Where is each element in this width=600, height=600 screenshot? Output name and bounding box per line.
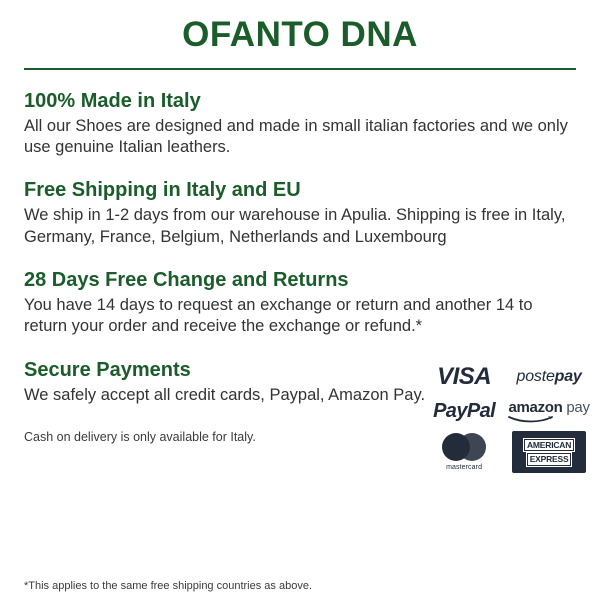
mastercard-logo: mastercard xyxy=(425,428,503,476)
section-secure-payments: Secure Payments We safely accept all cre… xyxy=(24,358,576,476)
cash-on-delivery-note: Cash on delivery is only available for I… xyxy=(24,429,425,445)
section-free-returns: 28 Days Free Change and Returns You have… xyxy=(24,268,576,339)
section-free-shipping: Free Shipping in Italy and EU We ship in… xyxy=(24,178,576,249)
mastercard-circle-right xyxy=(458,433,486,461)
amazon-swoosh-icon xyxy=(508,415,564,423)
amazon-pay-logo: amazon pay xyxy=(503,394,595,428)
amazon-pay-logo-mark: amazon pay xyxy=(508,400,589,423)
visa-logo: VISA xyxy=(425,360,503,394)
section-heading: 28 Days Free Change and Returns xyxy=(24,268,576,292)
amex-line-2: EXPRESS xyxy=(527,453,572,466)
secure-payments-text: Secure Payments We safely accept all cre… xyxy=(24,358,425,445)
mastercard-logo-text: mastercard xyxy=(446,464,482,471)
section-heading: Free Shipping in Italy and EU xyxy=(24,178,576,202)
american-express-logo: AMERICAN EXPRESS xyxy=(503,428,595,476)
payment-logos-grid: VISA postepay PayPal amazon pay xyxy=(425,360,600,476)
section-body: We safely accept all credit cards, Paypa… xyxy=(24,385,425,407)
postepay-logo: postepay xyxy=(503,360,595,394)
amazon-wordmark: amazon xyxy=(508,399,562,416)
shipping-footnote: *This applies to the same free shipping … xyxy=(24,580,312,592)
postepay-logo-text-light: poste xyxy=(517,368,555,385)
amex-line-1: AMERICAN xyxy=(524,439,574,452)
postepay-logo-text: postepay xyxy=(517,368,582,386)
postepay-logo-text-bold: pay xyxy=(555,368,582,385)
page-title: OFANTO DNA xyxy=(24,0,576,55)
secure-payments-row: Secure Payments We safely accept all cre… xyxy=(24,358,576,476)
mastercard-circles-icon xyxy=(442,433,486,461)
title-divider xyxy=(24,68,576,70)
section-made-in-italy: 100% Made in Italy All our Shoes are des… xyxy=(24,89,576,160)
visa-logo-text: VISA xyxy=(437,363,491,391)
paypal-logo-text: PayPal xyxy=(433,400,495,423)
amazon-pay-logo-text: amazon pay xyxy=(508,400,589,415)
section-heading: 100% Made in Italy xyxy=(24,89,576,113)
ofanto-dna-panel: OFANTO DNA 100% Made in Italy All our Sh… xyxy=(0,0,600,600)
american-express-logo-mark: AMERICAN EXPRESS xyxy=(512,431,586,473)
section-heading: Secure Payments xyxy=(24,358,425,382)
pay-wordmark: pay xyxy=(566,399,589,416)
section-body: We ship in 1-2 days from our warehouse i… xyxy=(24,205,576,249)
mastercard-logo-mark: mastercard xyxy=(442,433,486,471)
section-body: All our Shoes are designed and made in s… xyxy=(24,116,576,160)
paypal-logo: PayPal xyxy=(425,394,503,428)
section-body: You have 14 days to request an exchange … xyxy=(24,295,576,339)
